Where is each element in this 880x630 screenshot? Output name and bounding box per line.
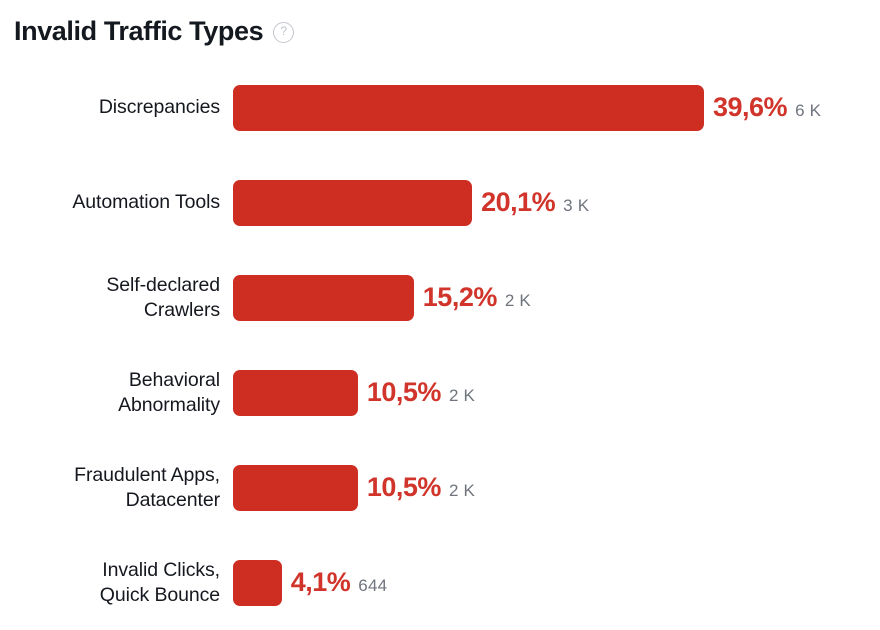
bar-area: 20,1%3 K bbox=[233, 180, 880, 226]
bar-absolute-label: 2 K bbox=[449, 482, 475, 499]
bar-absolute-label: 6 K bbox=[795, 102, 821, 119]
category-label: Fraudulent Apps, Datacenter bbox=[0, 463, 233, 513]
help-circle-icon[interactable]: ? bbox=[273, 22, 294, 43]
bar[interactable] bbox=[233, 85, 704, 131]
bar-area: 4,1%644 bbox=[233, 560, 880, 606]
bar-absolute-label: 2 K bbox=[505, 292, 531, 309]
bar-row[interactable]: Discrepancies39,6%6 K bbox=[0, 60, 880, 155]
bar-absolute-label: 2 K bbox=[449, 387, 475, 404]
category-label: Behavioral Abnormality bbox=[0, 368, 233, 418]
bar-value-group: 4,1%644 bbox=[291, 569, 388, 596]
bar-value-group: 10,5%2 K bbox=[367, 474, 475, 501]
bar[interactable] bbox=[233, 180, 472, 226]
bar-row[interactable]: Automation Tools20,1%3 K bbox=[0, 155, 880, 250]
bar[interactable] bbox=[233, 560, 282, 606]
bar-area: 39,6%6 K bbox=[233, 85, 880, 131]
bar-area: 15,2%2 K bbox=[233, 275, 880, 321]
bar-percent-label: 39,6% bbox=[713, 94, 787, 121]
bar[interactable] bbox=[233, 370, 358, 416]
bar-row[interactable]: Behavioral Abnormality10,5%2 K bbox=[0, 345, 880, 440]
bar[interactable] bbox=[233, 465, 358, 511]
bar-row[interactable]: Self-declared Crawlers15,2%2 K bbox=[0, 250, 880, 345]
bar-value-group: 39,6%6 K bbox=[713, 94, 821, 121]
bar-percent-label: 10,5% bbox=[367, 379, 441, 406]
page-title: Invalid Traffic Types bbox=[14, 18, 263, 45]
bar-percent-label: 10,5% bbox=[367, 474, 441, 501]
bar-area: 10,5%2 K bbox=[233, 465, 880, 511]
bar-area: 10,5%2 K bbox=[233, 370, 880, 416]
category-label: Discrepancies bbox=[0, 95, 233, 120]
invalid-traffic-types-card: Invalid Traffic Types ? Discrepancies39,… bbox=[0, 0, 880, 622]
card-header: Invalid Traffic Types ? bbox=[0, 0, 880, 46]
category-label: Automation Tools bbox=[0, 190, 233, 215]
bar[interactable] bbox=[233, 275, 414, 321]
bar-row[interactable]: Invalid Clicks, Quick Bounce4,1%644 bbox=[0, 535, 880, 630]
bar-absolute-label: 644 bbox=[358, 577, 387, 594]
category-label: Invalid Clicks, Quick Bounce bbox=[0, 558, 233, 608]
bar-percent-label: 15,2% bbox=[423, 284, 497, 311]
bar-row[interactable]: Fraudulent Apps, Datacenter10,5%2 K bbox=[0, 440, 880, 535]
category-label: Self-declared Crawlers bbox=[0, 273, 233, 323]
bar-percent-label: 20,1% bbox=[481, 189, 555, 216]
bar-value-group: 20,1%3 K bbox=[481, 189, 589, 216]
bar-value-group: 15,2%2 K bbox=[423, 284, 531, 311]
bar-chart: Discrepancies39,6%6 KAutomation Tools20,… bbox=[0, 60, 880, 630]
bar-value-group: 10,5%2 K bbox=[367, 379, 475, 406]
bar-percent-label: 4,1% bbox=[291, 569, 351, 596]
bar-absolute-label: 3 K bbox=[563, 197, 589, 214]
